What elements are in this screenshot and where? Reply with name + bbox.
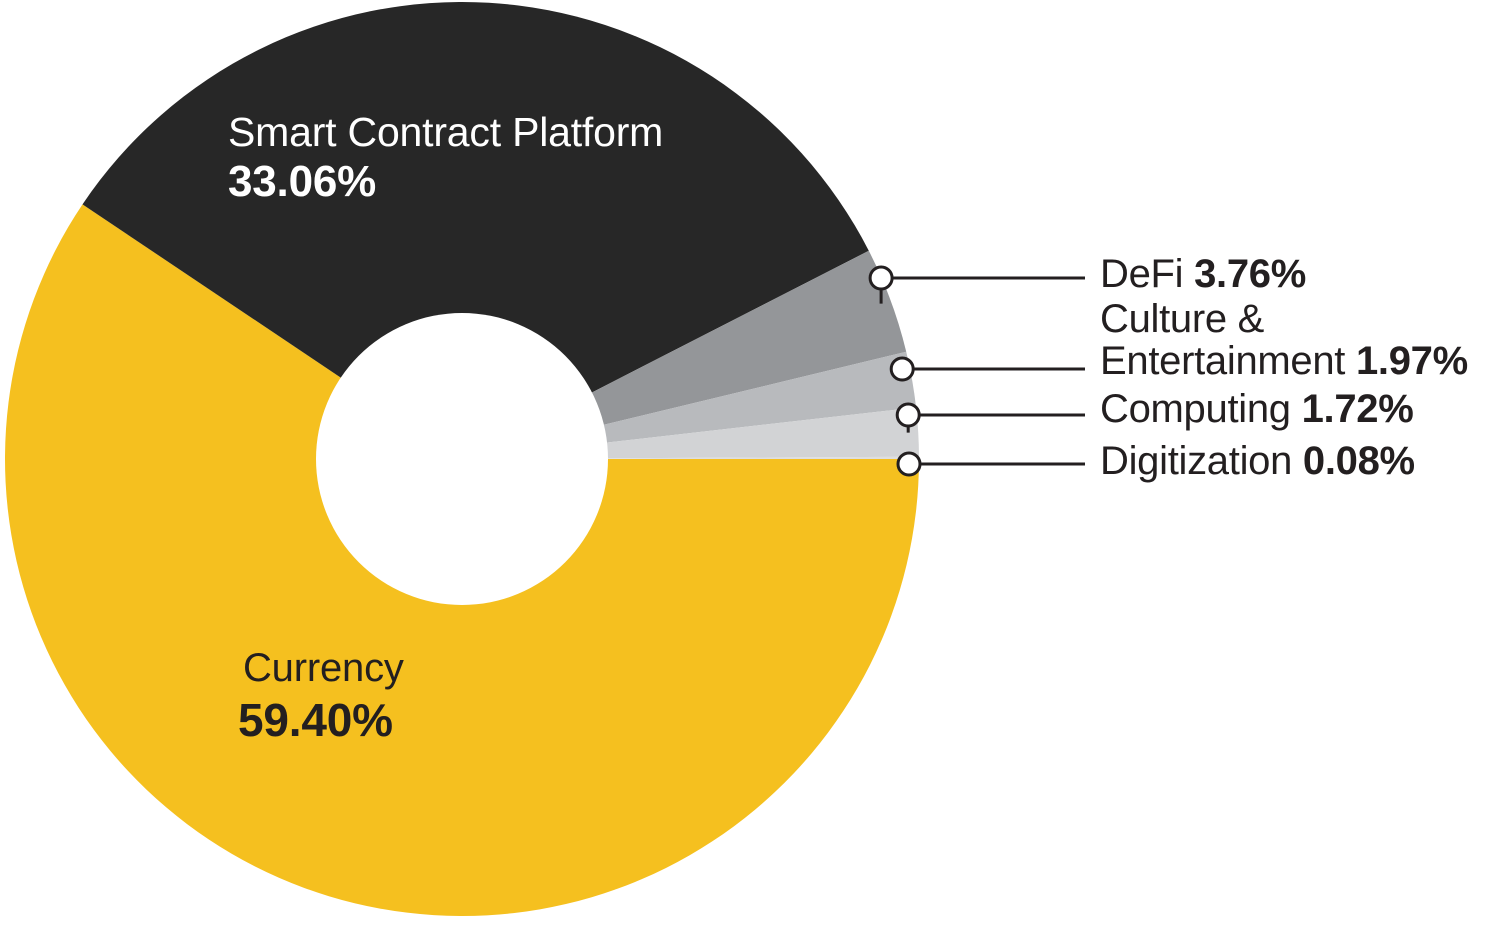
- callout-name: Digitization: [1100, 439, 1292, 483]
- callout-label-digitization: Digitization 0.08%: [1100, 440, 1415, 482]
- donut-hole: [316, 313, 608, 605]
- slice-label-percent: 33.06%: [228, 160, 663, 204]
- leader-line: [902, 369, 1085, 381]
- leader-line: [908, 415, 1085, 433]
- slice-label-percent: 59.40%: [238, 697, 404, 743]
- callout-name: DeFi: [1100, 252, 1183, 296]
- leader-line-marker[interactable]: [870, 267, 892, 289]
- leader-line-marker[interactable]: [898, 453, 920, 475]
- slice-label-currency: Currency 59.40%: [243, 648, 404, 743]
- donut-chart-figure: Smart Contract Platform 33.06% Currency …: [0, 0, 1500, 925]
- leader-line: [909, 458, 1085, 464]
- leader-line: [881, 278, 1085, 304]
- callout-percent: 0.08%: [1303, 439, 1415, 483]
- slice-label-name: Smart Contract Platform: [228, 112, 663, 153]
- callout-percent: 3.76%: [1194, 252, 1306, 296]
- leader-line-marker[interactable]: [891, 358, 913, 380]
- callout-name-line1: Culture &: [1100, 297, 1264, 341]
- callout-label-computing: Computing 1.72%: [1100, 388, 1414, 430]
- slice-label-name: Currency: [243, 648, 404, 688]
- callout-percent: 1.72%: [1302, 387, 1414, 431]
- callout-label-defi: DeFi 3.76%: [1100, 253, 1306, 295]
- slice-label-smart-contract-platform: Smart Contract Platform 33.06%: [228, 112, 663, 204]
- callout-label-culture-entertainment: Culture & Entertainment 1.97%: [1100, 298, 1468, 383]
- leader-line-marker[interactable]: [897, 404, 919, 426]
- callout-name: Computing: [1100, 387, 1291, 431]
- callout-percent: 1.97%: [1356, 339, 1468, 383]
- callout-name-line2: Entertainment: [1100, 339, 1345, 383]
